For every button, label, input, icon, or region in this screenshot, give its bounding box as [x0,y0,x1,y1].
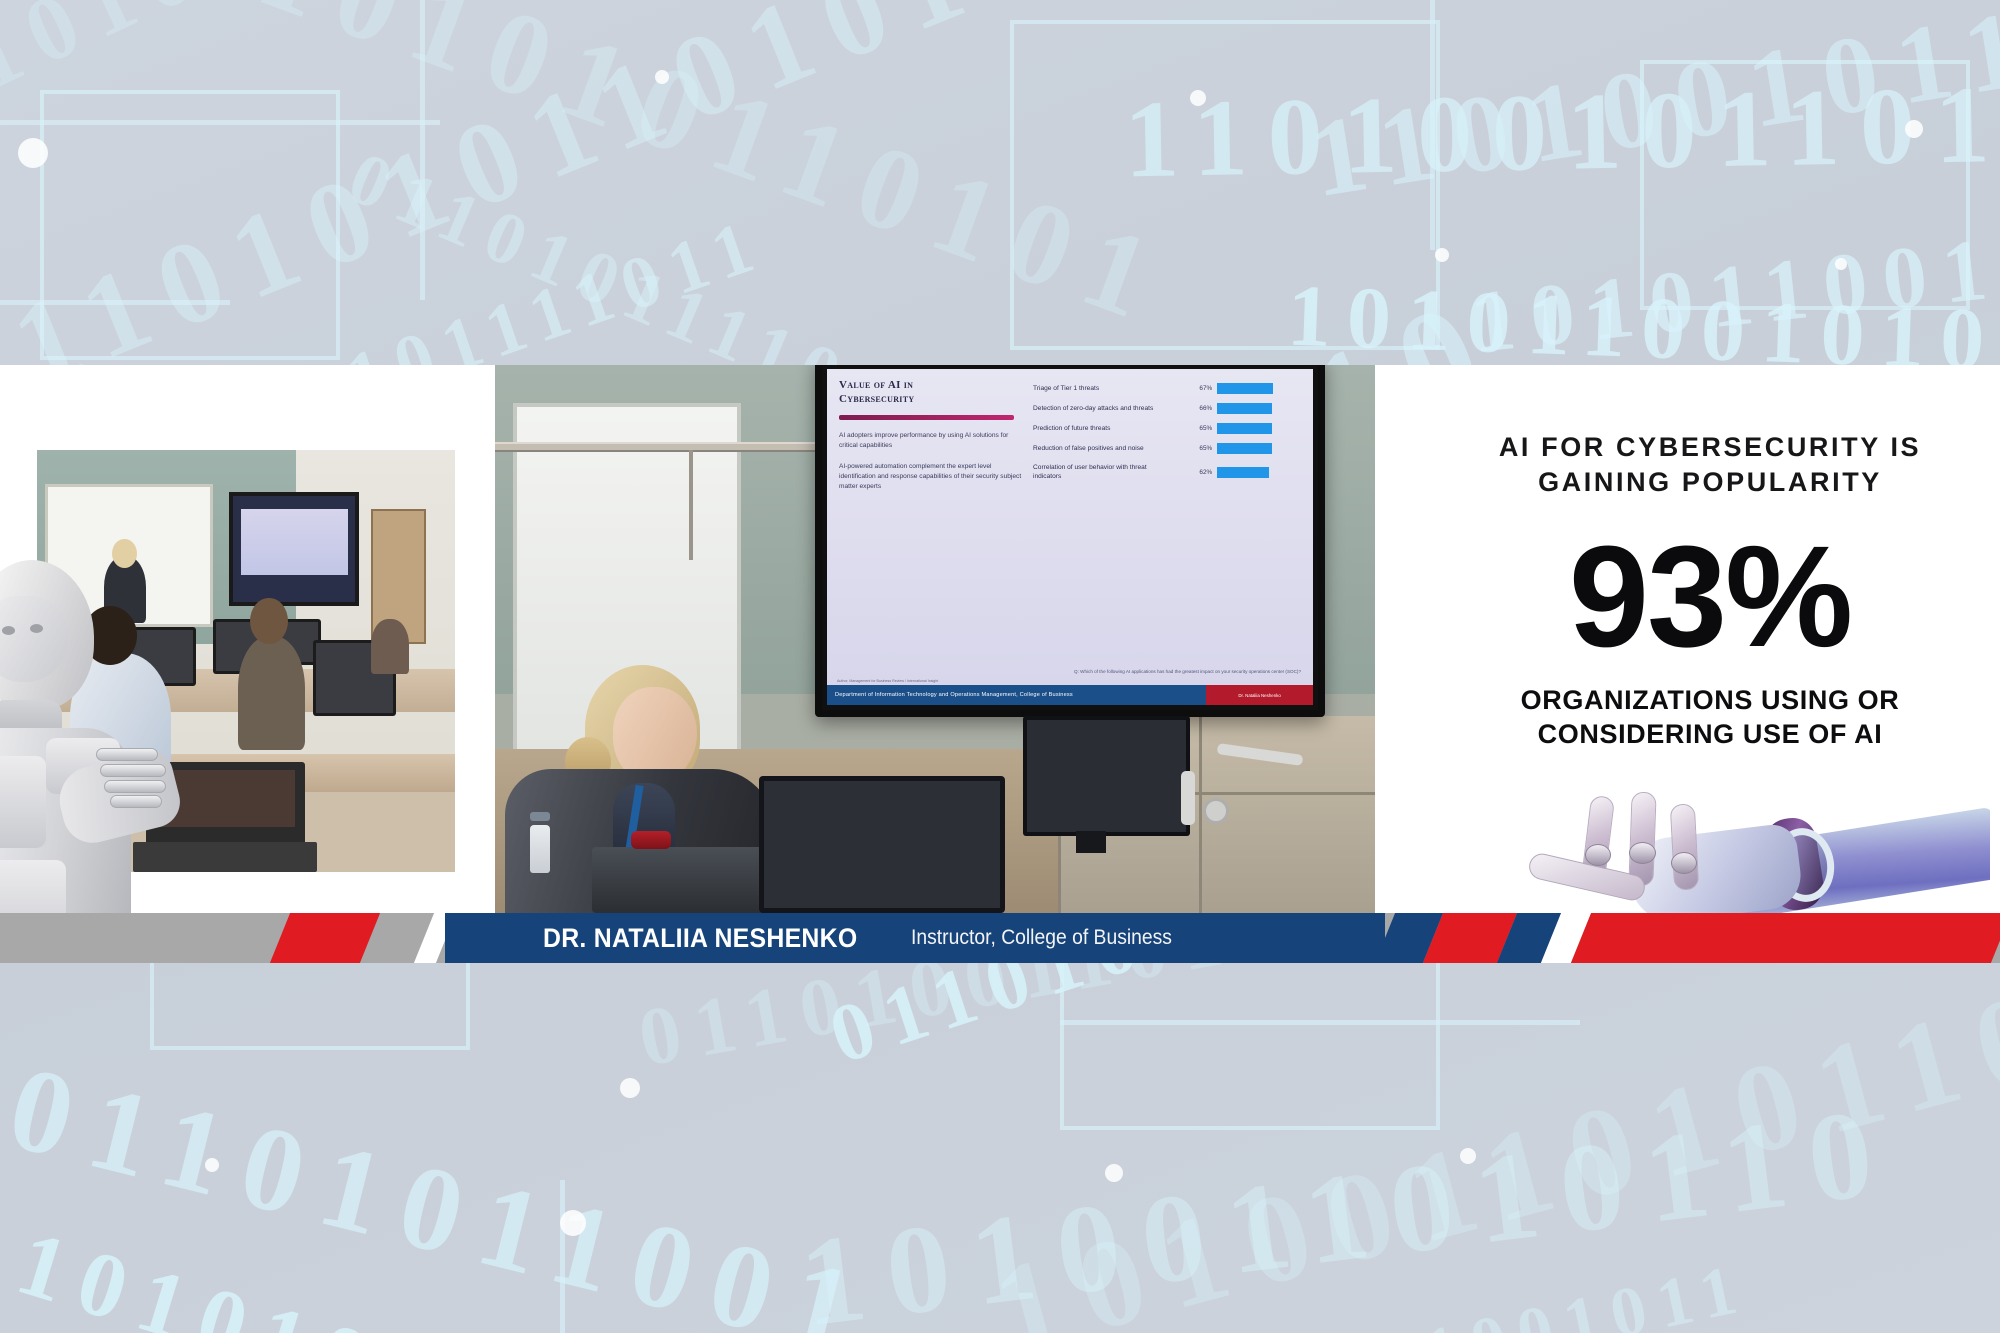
chart-bar-track [1217,443,1301,454]
robot-finger [104,780,166,793]
chart-value-label: 62% [1177,469,1212,476]
circuit-line [1430,0,1435,250]
stat-headline: AI FOR CYBERSECURITY IS GAINING POPULARI… [1430,430,1990,499]
robot-finger [1628,792,1656,887]
circuit-line [0,120,440,125]
banner-chevron-red [1571,913,2000,963]
glow-dot [560,1210,586,1236]
stat-subtext-line2: CONSIDERING USE OF AI [1430,717,1990,751]
circuit-line [0,300,230,305]
stat-subtext: ORGANIZATIONS USING OR CONSIDERING USE O… [1430,683,1990,751]
chart-category-label: Reduction of false positives and noise [1033,444,1172,453]
glow-dot [1835,258,1847,270]
stat-subtext-line1: ORGANIZATIONS USING OR [1430,683,1990,717]
glow-dot [1105,1164,1123,1182]
robot-finger [96,748,158,761]
chart-value-label: 65% [1177,445,1212,452]
student-head [250,598,288,644]
whiteboard-rail-arm [689,450,693,560]
glow-dot [1460,1148,1476,1164]
stat-value: 93% [1430,525,1990,669]
slide-bar-chart: Triage of Tier 1 threats67%Detection of … [1033,379,1301,667]
desk-device [631,831,671,849]
glow-dot [620,1078,640,1098]
robot-eye [30,624,43,633]
robot-figure [0,560,183,963]
presenter-title: Instructor, College of Business [911,926,1172,950]
desk-monitor-front [759,776,1005,913]
robot-finger [1670,803,1699,890]
chart-bar [1217,403,1272,414]
stat-headline-line1: AI FOR CYBERSECURITY IS [1430,430,1990,465]
monitor-arm [1181,771,1195,825]
water-bottle [530,825,550,873]
chart-category-label: Detection of zero-day attacks and threat… [1033,404,1172,413]
classroom-display [229,492,359,606]
slide-footer-department: Department of Information Technology and… [827,685,1206,705]
chart-category-label: Correlation of user behavior with threat… [1033,463,1172,481]
chart-row: Detection of zero-day attacks and threat… [1033,403,1301,414]
glow-dot [1905,120,1923,138]
robot-knuckle [1671,852,1697,874]
slide-body: Value of AI in Cybersecurity AI adopters… [827,369,1313,669]
slide-footnote: Q: Which of the following AI application… [827,669,1313,679]
stat-headline-line2: GAINING POPULARITY [1430,465,1990,500]
chart-category-label: Prediction of future threats [1033,424,1172,433]
chart-bar-track [1217,383,1301,394]
glow-dot [1190,90,1206,106]
stat-block: AI FOR CYBERSECURITY IS GAINING POPULARI… [1430,430,1990,751]
chart-bar [1217,423,1271,434]
presenter-name: DR. NATALIIA NESHENKO [543,923,857,954]
chart-bar [1217,467,1269,478]
student-figure [238,636,305,750]
slide-title: Value of AI in Cybersecurity [839,379,1025,407]
circuit-outline [1640,60,1970,310]
slide-accent-rule [839,415,1014,420]
slide-paragraph-2: AI-powered automation complement the exp… [839,462,1025,493]
cabinet-seam [1199,716,1202,913]
slide-left-column: Value of AI in Cybersecurity AI adopters… [839,379,1033,667]
circuit-line [1060,1020,1580,1025]
name-banner-bar: DR. NATALIIA NESHENKO Instructor, Colleg… [445,913,1385,963]
water-bottle-cap [530,812,550,821]
chart-row: Reduction of false positives and noise65… [1033,443,1301,454]
chart-value-label: 66% [1177,405,1212,412]
glow-dot [655,70,669,84]
chart-category-label: Triage of Tier 1 threats [1033,384,1172,393]
robot-eye [2,626,15,635]
robot-chest-panel [0,756,46,848]
robot-knuckle [1629,842,1656,864]
slide-footer-presenter: Dr. Nataliia Neshenko [1206,685,1313,705]
circuit-line [420,0,425,300]
chart-value-label: 65% [1177,425,1212,432]
glow-dot [205,1158,219,1172]
chart-row: Prediction of future threats65% [1033,423,1301,434]
robot-finger [100,764,166,777]
chart-value-label: 67% [1177,385,1212,392]
glow-dot [1435,248,1449,262]
student-figure [371,619,409,674]
robot-knuckle [1585,844,1611,866]
chart-bar [1217,383,1273,394]
chart-bar-track [1217,403,1301,414]
circuit-outline [1010,20,1440,350]
circuit-line [560,1180,565,1333]
slide-title-line1: Value of AI in [839,379,1025,393]
robot-finger [110,795,162,808]
desk-monitor-back [1023,716,1190,837]
whiteboard-rail [495,442,865,452]
circuit-outline [40,90,340,360]
presentation-screen: Value of AI in Cybersecurity AI adopters… [815,365,1325,717]
chart-bar [1217,443,1271,454]
chart-bar-track [1217,423,1301,434]
lecture-photo: Value of AI in Cybersecurity AI adopters… [495,365,1375,913]
chart-bar-track [1217,467,1301,478]
glow-dot [18,138,48,168]
chart-row: Correlation of user behavior with threat… [1033,463,1301,481]
robot-hand [96,746,183,808]
slide-footer: Department of Information Technology and… [827,685,1313,705]
slide-paragraph-1: AI adopters improve performance by using… [839,431,1025,451]
monitor-stand [1076,831,1106,853]
slide-title-line2: Cybersecurity [839,393,1025,407]
chart-row: Triage of Tier 1 threats67% [1033,383,1301,394]
presentation-slide: Value of AI in Cybersecurity AI adopters… [827,369,1313,705]
